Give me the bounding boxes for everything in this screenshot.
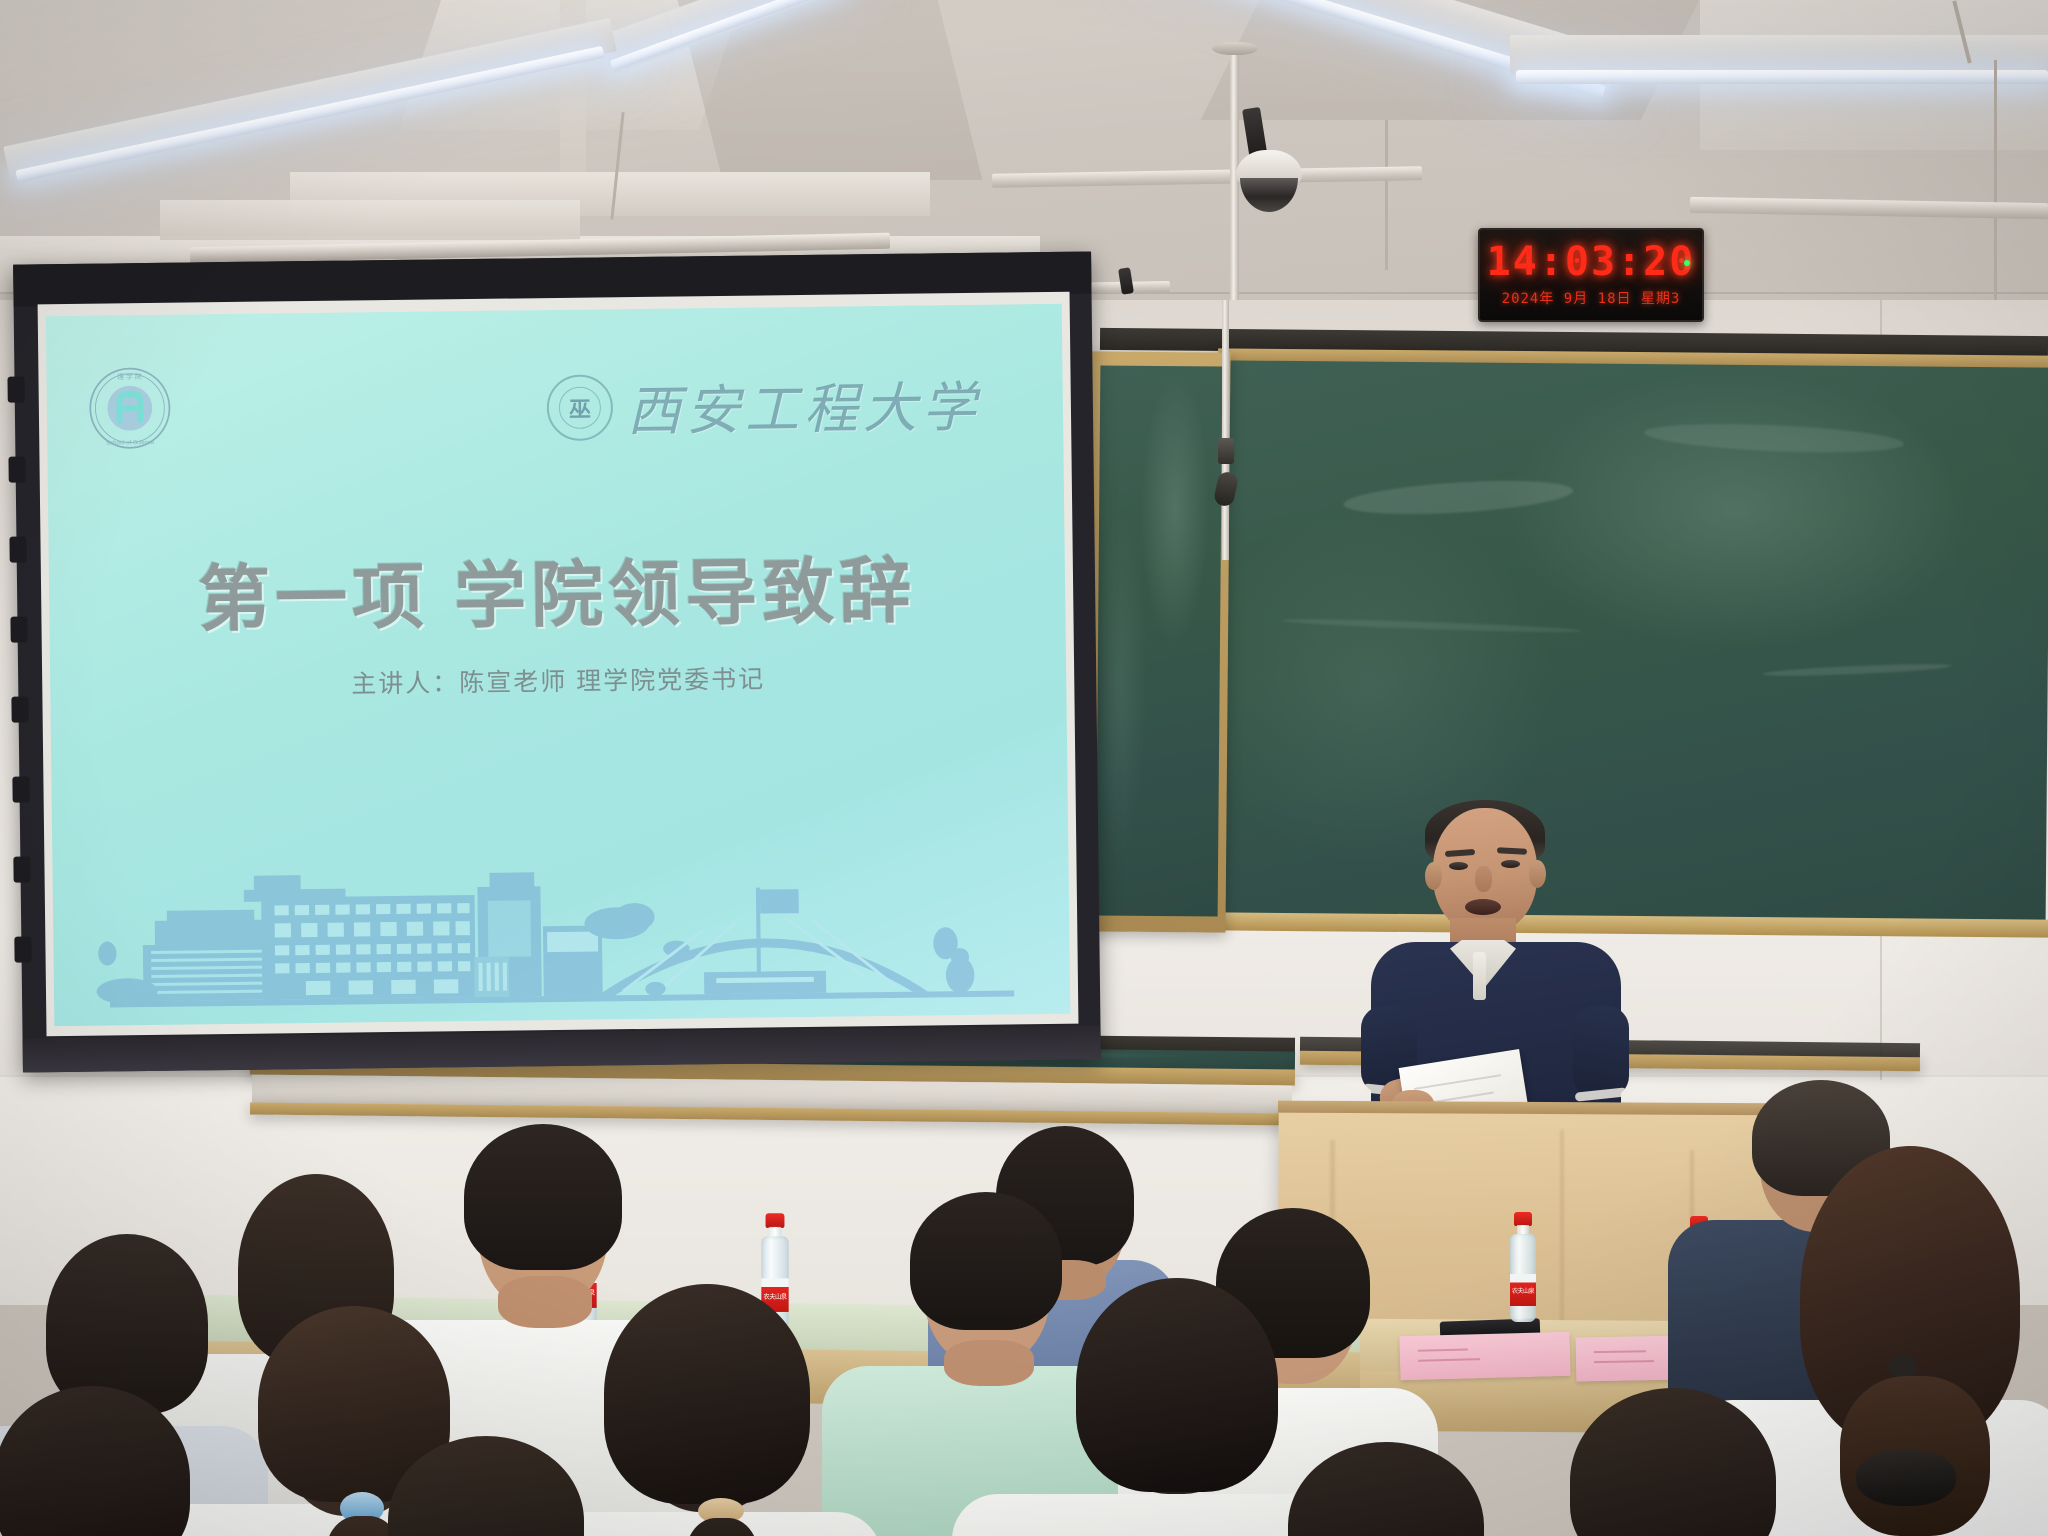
led-wall-clock: 14:03:20 2024年 9月 18日 星期3 — [1478, 228, 1704, 322]
chalk-smudge — [1282, 617, 1582, 634]
slide-title: 第一项 学院领导致辞 — [48, 530, 1065, 647]
presenter-eye — [1501, 860, 1520, 868]
bottle-brand-label: 农夫山泉 — [761, 1291, 788, 1300]
slide-subtitle: 主讲人：陈宣老师 理学院党委书记 — [50, 656, 1066, 704]
presenter-mouth — [1465, 899, 1501, 915]
screen-tension-tab — [13, 856, 30, 882]
screen-tension-tab — [11, 696, 28, 722]
presenter-nose — [1475, 866, 1492, 892]
hair-bow — [1856, 1450, 1956, 1506]
paper-text-line — [1594, 1350, 1646, 1353]
microphone-pole — [1222, 300, 1229, 560]
screen-tension-tab — [14, 936, 31, 962]
presenter-ear — [1529, 860, 1546, 888]
screen-tension-tab — [9, 536, 26, 562]
bottle-brand-label: 农夫山泉 — [1510, 1286, 1536, 1295]
presenter-ear — [1425, 862, 1442, 890]
university-wordmark: 巫 西安工程大学 — [546, 363, 981, 447]
projected-slide: 理 学 院 School of Science 巫 西安工程大学 第一项 学院领… — [46, 304, 1071, 1026]
paper-text-line — [1594, 1360, 1654, 1363]
screen-tension-tab — [8, 456, 25, 482]
presenter-eye — [1449, 862, 1468, 870]
svg-text:School of Science: School of Science — [106, 440, 155, 447]
paper-text-line — [1414, 1074, 1501, 1090]
student-hair — [910, 1192, 1062, 1330]
campus-skyline-illustration — [52, 814, 1070, 1016]
student-neck — [498, 1276, 592, 1328]
svg-text:理 学 院: 理 学 院 — [117, 372, 142, 381]
seal-glyph: 巫 — [559, 386, 602, 429]
paper-text-line — [1418, 1348, 1468, 1351]
paper-text-line — [1418, 1358, 1480, 1362]
lecture-hall-photo: ❤ 红 阳 14:03:20 2024年 9月 18日 星期3 — [0, 0, 2048, 1536]
clock-indicator-led-icon — [1684, 260, 1690, 266]
pink-paper-left — [1399, 1332, 1570, 1380]
screen-tension-tab — [7, 376, 24, 402]
green-chalkboard-left — [1096, 365, 1223, 916]
university-name: 西安工程大学 — [626, 363, 981, 446]
hanging-cable — [1994, 60, 1997, 310]
student-hair — [604, 1284, 810, 1504]
water-bottle: 农夫山泉 — [1508, 1212, 1538, 1322]
presenter-placket — [1473, 952, 1486, 1000]
chalk-smudge — [1343, 475, 1574, 519]
hair-clip — [1888, 1356, 1918, 1378]
projection-screen: 理 学 院 School of Science 巫 西安工程大学 第一项 学院领… — [13, 251, 1101, 1072]
ceiling-duct — [160, 200, 580, 240]
student-hair — [1076, 1278, 1278, 1492]
school-of-science-emblem: 理 学 院 School of Science — [86, 365, 173, 452]
screen-tension-tab — [10, 616, 27, 642]
screen-tension-tab — [12, 776, 29, 802]
university-seal-icon: 巫 — [546, 374, 613, 441]
student-hair — [464, 1124, 622, 1270]
fluorescent-tube-light — [1516, 70, 2048, 84]
chalk-smudge — [1762, 662, 1952, 678]
microphone-clip — [1218, 438, 1234, 464]
student-hair — [46, 1234, 208, 1414]
clock-date: 2024年 9月 18日 星期3 — [1502, 288, 1681, 308]
chalk-smudge — [1643, 420, 1904, 457]
student-neck — [944, 1340, 1034, 1386]
presenter-sleeve-right — [1573, 1006, 1629, 1098]
hanging-cable — [1385, 120, 1388, 270]
camera-pole-cap — [1212, 42, 1258, 55]
bottle-cap — [1514, 1212, 1532, 1226]
bottle-cap — [766, 1213, 785, 1228]
clock-time: 14:03:20 — [1487, 242, 1696, 282]
